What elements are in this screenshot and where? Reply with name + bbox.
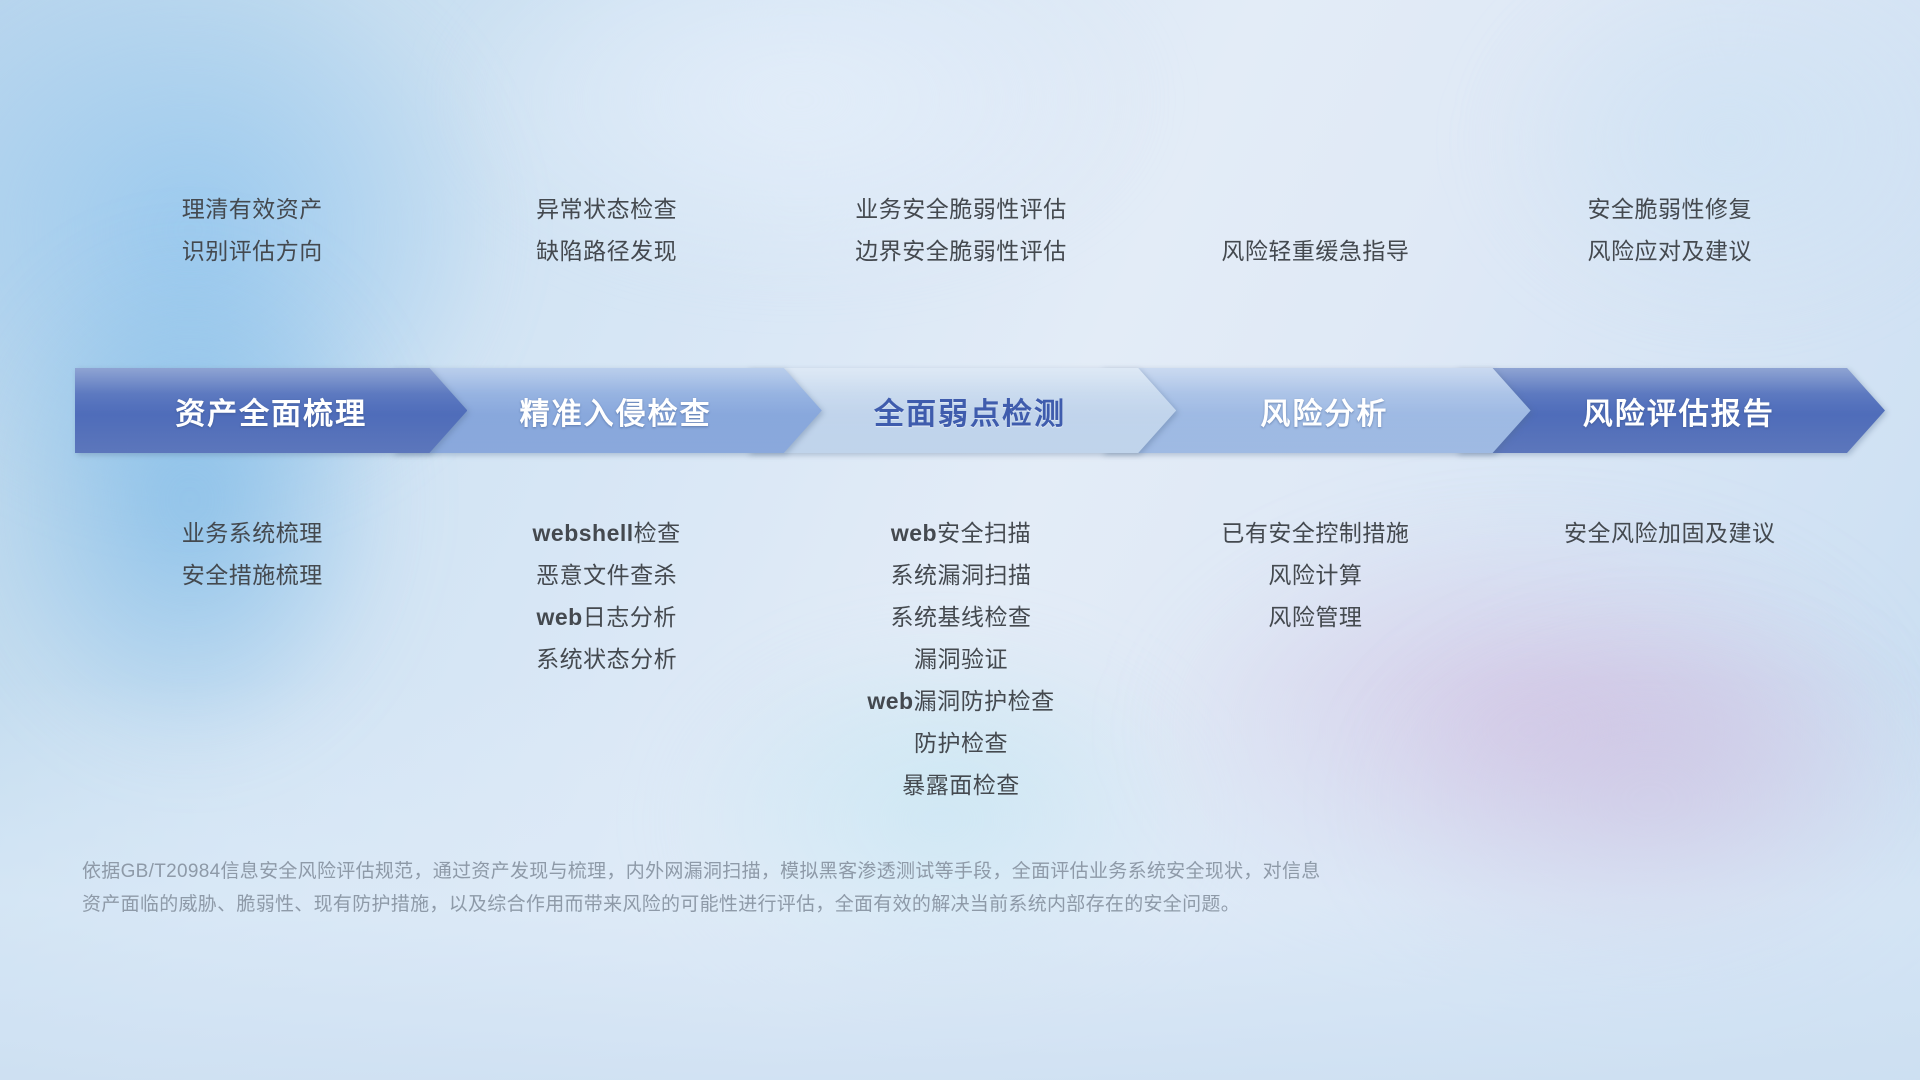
stage-label-risk-assessment-report: 风险评估报告 (1583, 389, 1775, 433)
annotation-line: 业务安全脆弱性评估 (741, 188, 1181, 230)
stage-chevron-asset-inventory[interactable]: 资产全面梳理 (75, 368, 467, 453)
annotation-line: 安全脆弱性修复 (1450, 188, 1890, 230)
stage-label-asset-inventory: 资产全面梳理 (175, 389, 367, 433)
stage-label-precise-intrusion-check: 精准入侵检查 (520, 389, 712, 433)
stage-label-full-weakness-detection: 全面弱点检测 (874, 389, 1066, 433)
annotation-keyword: webshell (533, 520, 634, 546)
footer-note-line-1: 依据GB/T20984信息安全风险评估规范，通过资产发现与梳理，内外网漏洞扫描，… (82, 855, 1782, 888)
stage-chevron-band: 资产全面梳理精准入侵检查全面弱点检测风险分析风险评估报告 (75, 368, 1847, 453)
top-annotations-risk-assessment-report: 安全脆弱性修复风险应对及建议 (1450, 188, 1890, 272)
footer-note-line-2: 资产面临的威胁、脆弱性、现有防护措施，以及综合作用而带来风险的可能性进行评估，全… (82, 888, 1782, 921)
annotation-line: web漏洞防护检查 (741, 680, 1181, 722)
annotation-line: 安全风险加固及建议 (1450, 512, 1890, 554)
annotation-keyword: web (536, 604, 582, 630)
process-flow-diagram: 理清有效资产识别评估方向异常状态检查缺陷路径发现业务安全脆弱性评估边界安全脆弱性… (0, 0, 1920, 1080)
annotation-line: 防护检查 (741, 722, 1181, 764)
annotation-keyword: web (867, 688, 913, 714)
bottom-annotations-risk-assessment-report: 安全风险加固及建议 (1450, 512, 1890, 554)
annotation-line: 暴露面检查 (741, 764, 1181, 806)
stage-label-risk-analysis: 风险分析 (1260, 389, 1388, 433)
annotation-keyword: web (891, 520, 937, 546)
annotation-line: 漏洞验证 (741, 638, 1181, 680)
annotation-line: 风险管理 (1095, 596, 1535, 638)
annotation-line: 风险应对及建议 (1450, 230, 1890, 272)
footer-note: 依据GB/T20984信息安全风险评估规范，通过资产发现与梳理，内外网漏洞扫描，… (82, 855, 1782, 921)
annotation-line: 风险计算 (1095, 554, 1535, 596)
